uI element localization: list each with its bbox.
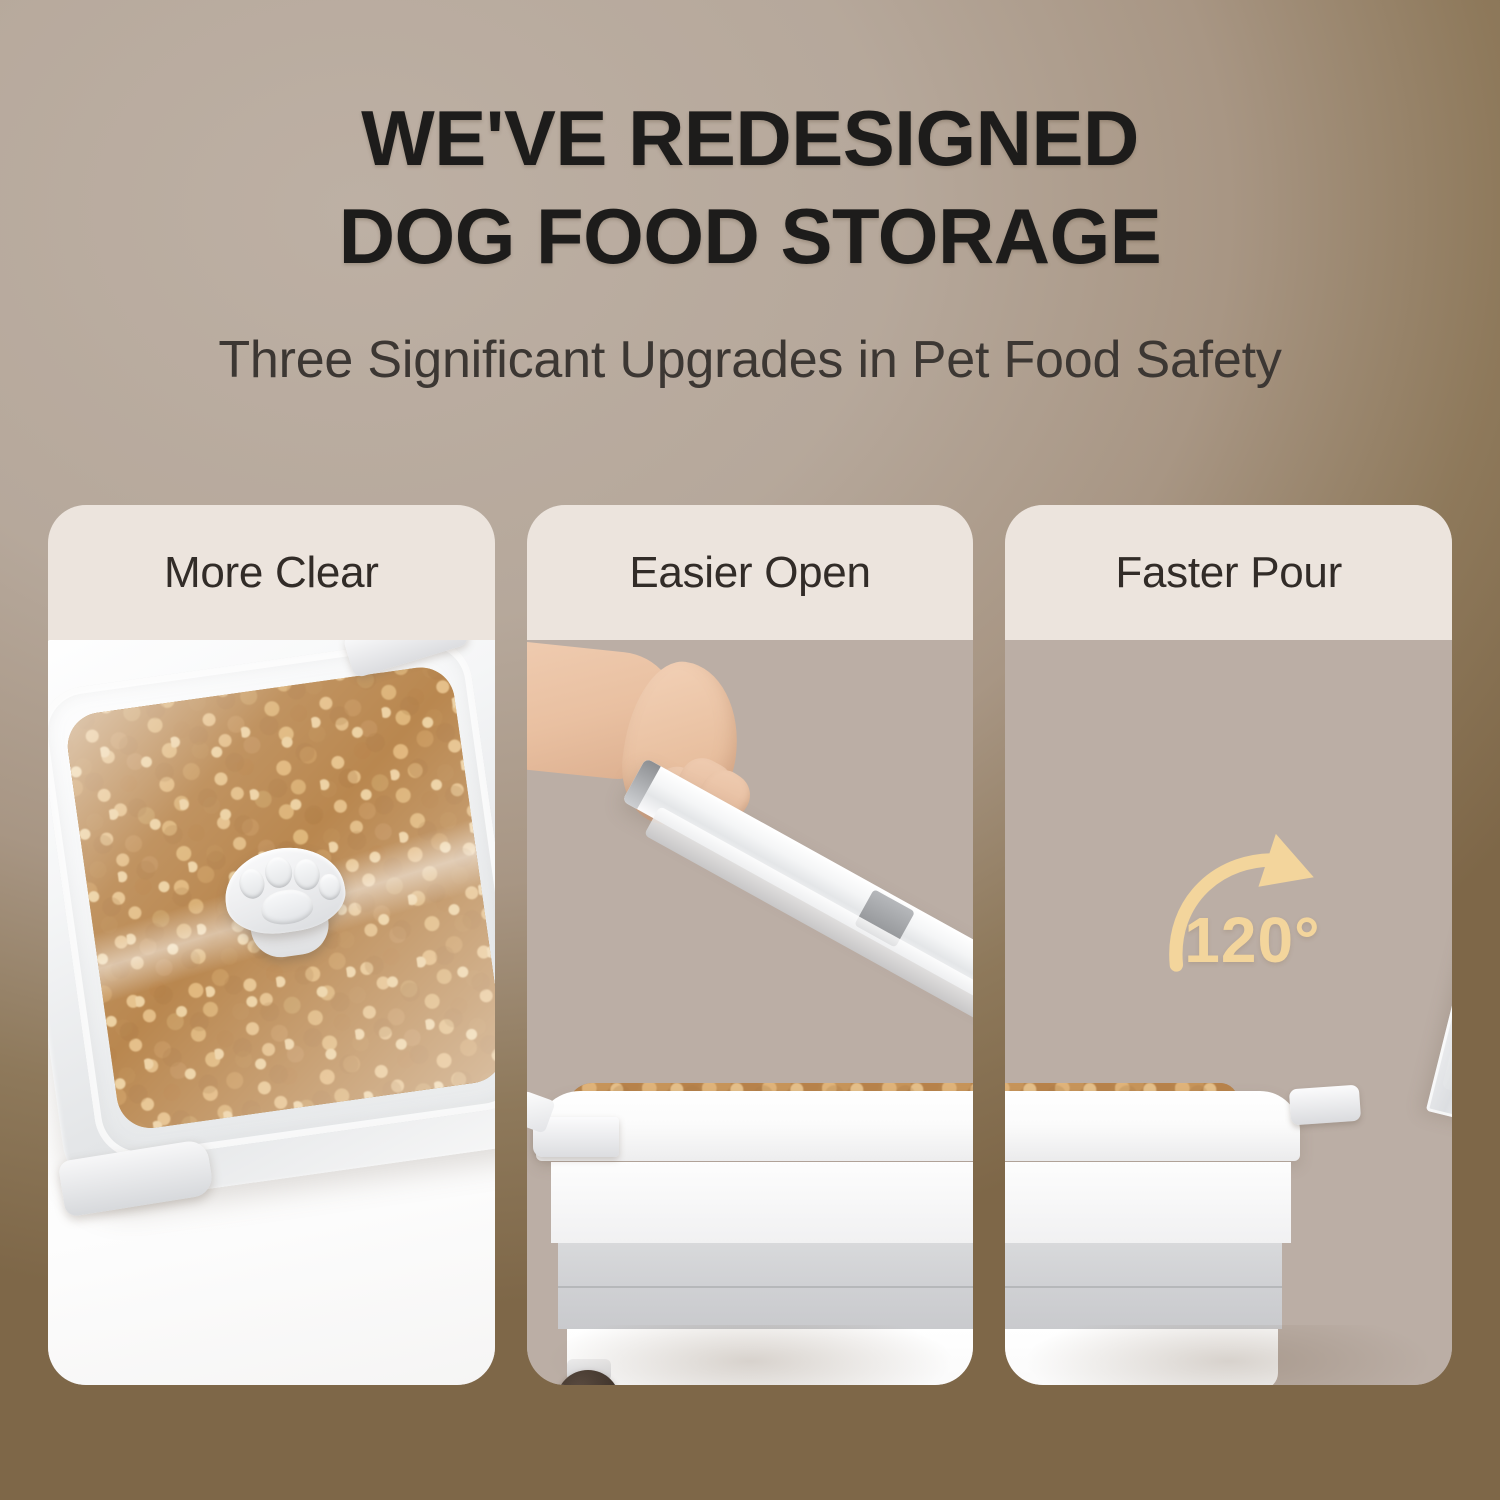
clear-lid-window bbox=[64, 664, 495, 1133]
headline-line-2: DOG FOOD STORAGE bbox=[0, 194, 1500, 280]
floor-shadow bbox=[545, 1325, 956, 1385]
bin-upper-wall bbox=[551, 1162, 973, 1244]
paw-toe-icon bbox=[317, 873, 342, 902]
feature-card-faster-pour[interactable]: Faster Pour bbox=[1005, 505, 1452, 1385]
clear-lid-frame bbox=[48, 640, 495, 1208]
clear-lid-open-120[interactable] bbox=[1426, 691, 1452, 1123]
paw-print-vent-knob[interactable] bbox=[214, 836, 357, 957]
card-image-faster-pour: 120° bbox=[1005, 640, 1452, 1385]
card-header-faster-pour: Faster Pour bbox=[1005, 505, 1452, 640]
paw-main-pad-icon bbox=[259, 887, 315, 928]
feature-card-more-clear[interactable]: More Clear bbox=[48, 505, 495, 1385]
card-title-more-clear: More Clear bbox=[164, 548, 379, 598]
card-image-more-clear bbox=[48, 640, 495, 1385]
infographic-canvas: WE'VE REDESIGNED DOG FOOD STORAGE Three … bbox=[0, 0, 1500, 1500]
card-image-easier-open bbox=[527, 640, 974, 1385]
feature-card-row: More Clear bbox=[48, 505, 1452, 1385]
feature-card-easier-open[interactable]: Easier Open bbox=[527, 505, 974, 1385]
lid-hinge bbox=[1289, 1085, 1361, 1126]
bin-collapsible-section bbox=[1005, 1243, 1282, 1329]
page-subtitle: Three Significant Upgrades in Pet Food S… bbox=[0, 330, 1500, 390]
card-title-faster-pour: Faster Pour bbox=[1115, 548, 1342, 598]
paw-toe-icon bbox=[292, 857, 322, 891]
card-header-easier-open: Easier Open bbox=[527, 505, 974, 640]
floor-shadow bbox=[1023, 1325, 1434, 1385]
arrow-head-icon bbox=[1258, 833, 1321, 899]
angle-badge-120: 120° bbox=[1162, 789, 1367, 1042]
headline-line-1: WE'VE REDESIGNED bbox=[361, 94, 1139, 182]
bin-collapsible-section bbox=[558, 1243, 973, 1329]
page-title: WE'VE REDESIGNED DOG FOOD STORAGE bbox=[0, 96, 1500, 280]
paw-toe-icon bbox=[263, 855, 294, 889]
card-header-more-clear: More Clear bbox=[48, 505, 495, 640]
side-handle-latch[interactable] bbox=[533, 1117, 619, 1157]
bin-upper-wall bbox=[1005, 1162, 1291, 1244]
paw-toe-icon bbox=[238, 867, 267, 900]
clear-lid-inner-panel bbox=[1442, 706, 1452, 1096]
angle-badge-label: 120° bbox=[1184, 903, 1320, 977]
card-title-easier-open: Easier Open bbox=[629, 548, 870, 598]
bin-top-rim bbox=[1005, 1091, 1300, 1162]
paw-pad-body bbox=[220, 840, 351, 940]
